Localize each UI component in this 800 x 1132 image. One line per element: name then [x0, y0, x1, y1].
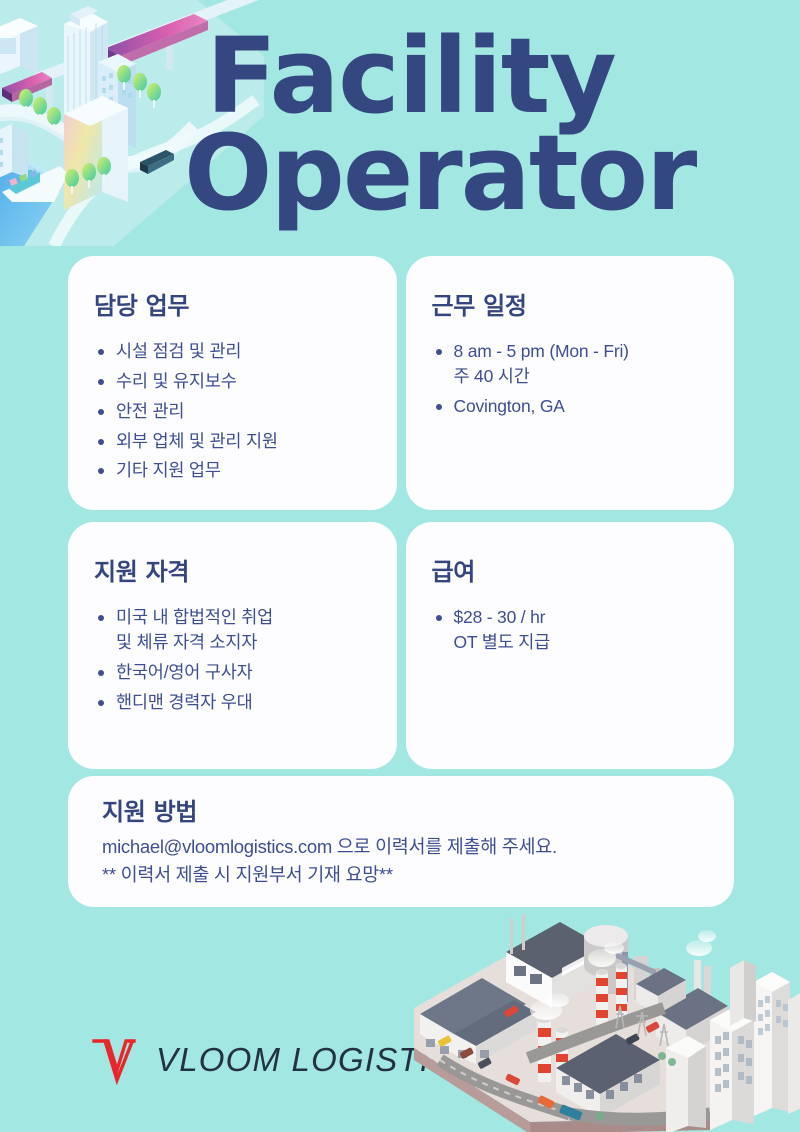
list-item: 수리 및 유지보수 [94, 369, 371, 394]
title-line-2: Operator [184, 125, 766, 222]
list-item: 한국어/영어 구사자 [94, 660, 371, 685]
card-responsibilities: 담당 업무 시설 점검 및 관리 수리 및 유지보수 안전 관리 외부 업체 및… [68, 256, 397, 510]
logo-wordmark: VLOOM LOGISTICS [156, 1041, 478, 1079]
card-heading: 근무 일정 [432, 286, 709, 321]
card-row-2: 지원 자격 미국 내 합법적인 취업 및 체류 자격 소지자 한국어/영어 구사… [68, 522, 734, 769]
list-item: 미국 내 합법적인 취업 및 체류 자격 소지자 [94, 605, 371, 655]
list-item: 시설 점검 및 관리 [94, 339, 371, 364]
train-glyph [106, 14, 208, 66]
v-chevron-logo-icon [88, 1032, 144, 1088]
bullet-list: $28 - 30 / hr OT 별도 지급 [432, 605, 709, 655]
bullet-list: 8 am - 5 pm (Mon - Fri) 주 40 시간 Covingto… [432, 339, 709, 419]
list-item: 기타 지원 업무 [94, 458, 371, 483]
container-ship-glyph [2, 166, 68, 202]
bullet-list: 시설 점검 및 관리 수리 및 유지보수 안전 관리 외부 업체 및 관리 지원… [94, 339, 371, 483]
card-qualifications: 지원 자격 미국 내 합법적인 취업 및 체류 자격 소지자 한국어/영어 구사… [68, 522, 397, 769]
card-how-to-apply: 지원 방법 michael@vloomlogistics.com 으로 이력서를… [68, 776, 734, 907]
title-line-1: Facility [206, 28, 766, 125]
isometric-factory-illustration [410, 908, 800, 1132]
card-heading: 지원 방법 [102, 792, 704, 827]
card-heading: 담당 업무 [94, 286, 371, 321]
list-item: 8 am - 5 pm (Mon - Fri) 주 40 시간 [432, 339, 709, 389]
truck-glyph [140, 150, 174, 174]
info-cards-grid: 담당 업무 시설 점검 및 관리 수리 및 유지보수 안전 관리 외부 업체 및… [68, 256, 734, 769]
apply-email-line[interactable]: michael@vloomlogistics.com 으로 이력서를 제출해 주… [102, 833, 704, 861]
list-item: 핸디맨 경력자 우대 [94, 690, 371, 715]
card-heading: 지원 자격 [94, 552, 371, 587]
job-posting-poster: Facility Operator 담당 업무 시설 점검 및 관리 수리 및 … [0, 0, 800, 1132]
tree-glyphs [19, 65, 161, 194]
card-row-1: 담당 업무 시설 점검 및 관리 수리 및 유지보수 안전 관리 외부 업체 및… [68, 256, 734, 510]
pylon-glyphs [616, 1006, 668, 1046]
list-item: $28 - 30 / hr OT 별도 지급 [432, 605, 709, 655]
list-item: 외부 업체 및 관리 지원 [94, 429, 371, 454]
skyscraper-glyph [64, 6, 108, 132]
smokestack-glyphs [538, 960, 712, 1088]
list-item: Covington, GA [432, 394, 709, 419]
office-tower-glyphs [666, 960, 800, 1132]
smoke-glyphs [530, 930, 716, 1020]
card-heading: 급여 [432, 552, 709, 587]
company-logo: VLOOM LOGISTICS [88, 1032, 478, 1088]
list-item: 안전 관리 [94, 399, 371, 424]
card-salary: 급여 $28 - 30 / hr OT 별도 지급 [406, 522, 735, 769]
bullet-list: 미국 내 합법적인 취업 및 체류 자격 소지자 한국어/영어 구사자 핸디맨 … [94, 605, 371, 714]
poster-title: Facility Operator [206, 28, 766, 221]
apply-note-line: ** 이력서 제출 시 지원부서 기재 요망** [102, 861, 704, 889]
card-schedule: 근무 일정 8 am - 5 pm (Mon - Fri) 주 40 시간 Co… [406, 256, 735, 510]
